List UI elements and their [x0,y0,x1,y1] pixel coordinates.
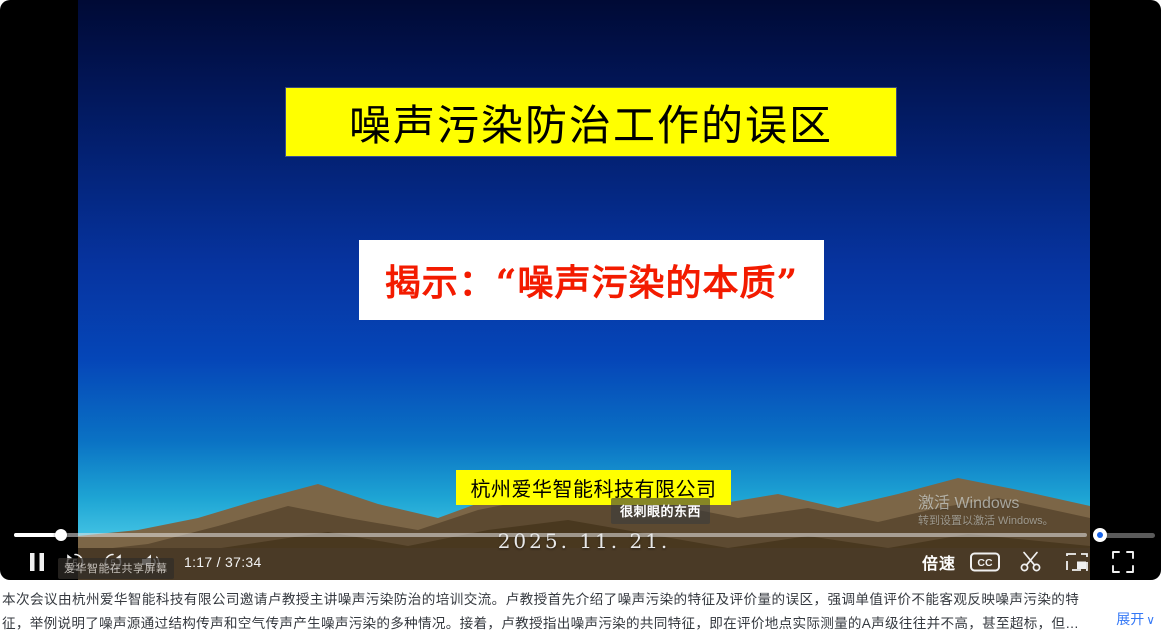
picture-in-picture-button[interactable] [1057,543,1097,580]
slide-title-box: 噪声污染防治工作的误区 [286,88,896,156]
fullscreen-icon [1111,550,1135,574]
screen-share-toast: 爱华智能在共享屏幕 [58,558,174,579]
slide-subtitle-box: 揭示：“噪声污染的本质” [359,240,824,320]
picture-in-picture-icon [1065,551,1089,573]
player-control-bar[interactable]: 5 5 1:17 / 37:34 倍速 [0,543,1161,580]
scissors-icon [1019,550,1043,574]
video-frame[interactable]: 噪声污染防治工作的误区 揭示：“噪声污染的本质” 杭州爱华智能科技有限公司 很刺… [78,0,1090,580]
chevron-down-icon: ∨ [1146,613,1155,627]
video-player[interactable]: 噪声污染防治工作的误区 揭示：“噪声污染的本质” 杭州爱华智能科技有限公司 很刺… [0,0,1161,580]
clip-button[interactable] [1011,543,1051,580]
slide-title: 噪声污染防治工作的误区 [349,92,833,153]
expand-label: 展开 [1116,611,1144,627]
pause-button[interactable] [18,543,56,580]
caption-chip: 很刺眼的东西 [611,498,710,524]
playback-speed-button[interactable]: 倍速 [919,543,959,580]
seek-bar-track[interactable] [14,533,1087,537]
time-display: 1:17 / 37:34 [184,554,262,570]
expand-description-button[interactable]: 展开∨ [1102,609,1155,629]
fullscreen-button[interactable] [1103,543,1143,580]
description-text: 本次会议由杭州爱华智能科技有限公司邀请卢教授主讲噪声污染防治的培训交流。卢教授首… [2,588,1161,636]
captions-button[interactable]: CC [965,543,1005,580]
playback-speed-label: 倍速 [918,550,960,574]
volume-slider-handle[interactable] [1093,528,1107,542]
progress-bar-row[interactable] [0,527,1161,543]
svg-text:CC: CC [977,557,993,569]
slide-subtitle: 揭示：“噪声污染的本质” [385,254,798,306]
player-controls-right: 倍速 CC [919,543,1161,580]
seek-bar-handle[interactable] [55,529,67,541]
video-description: 本次会议由杭州爱华智能科技有限公司邀请卢教授主讲噪声污染防治的培训交流。卢教授首… [0,584,1161,637]
pause-icon [27,551,47,573]
cc-icon: CC [970,551,1000,573]
